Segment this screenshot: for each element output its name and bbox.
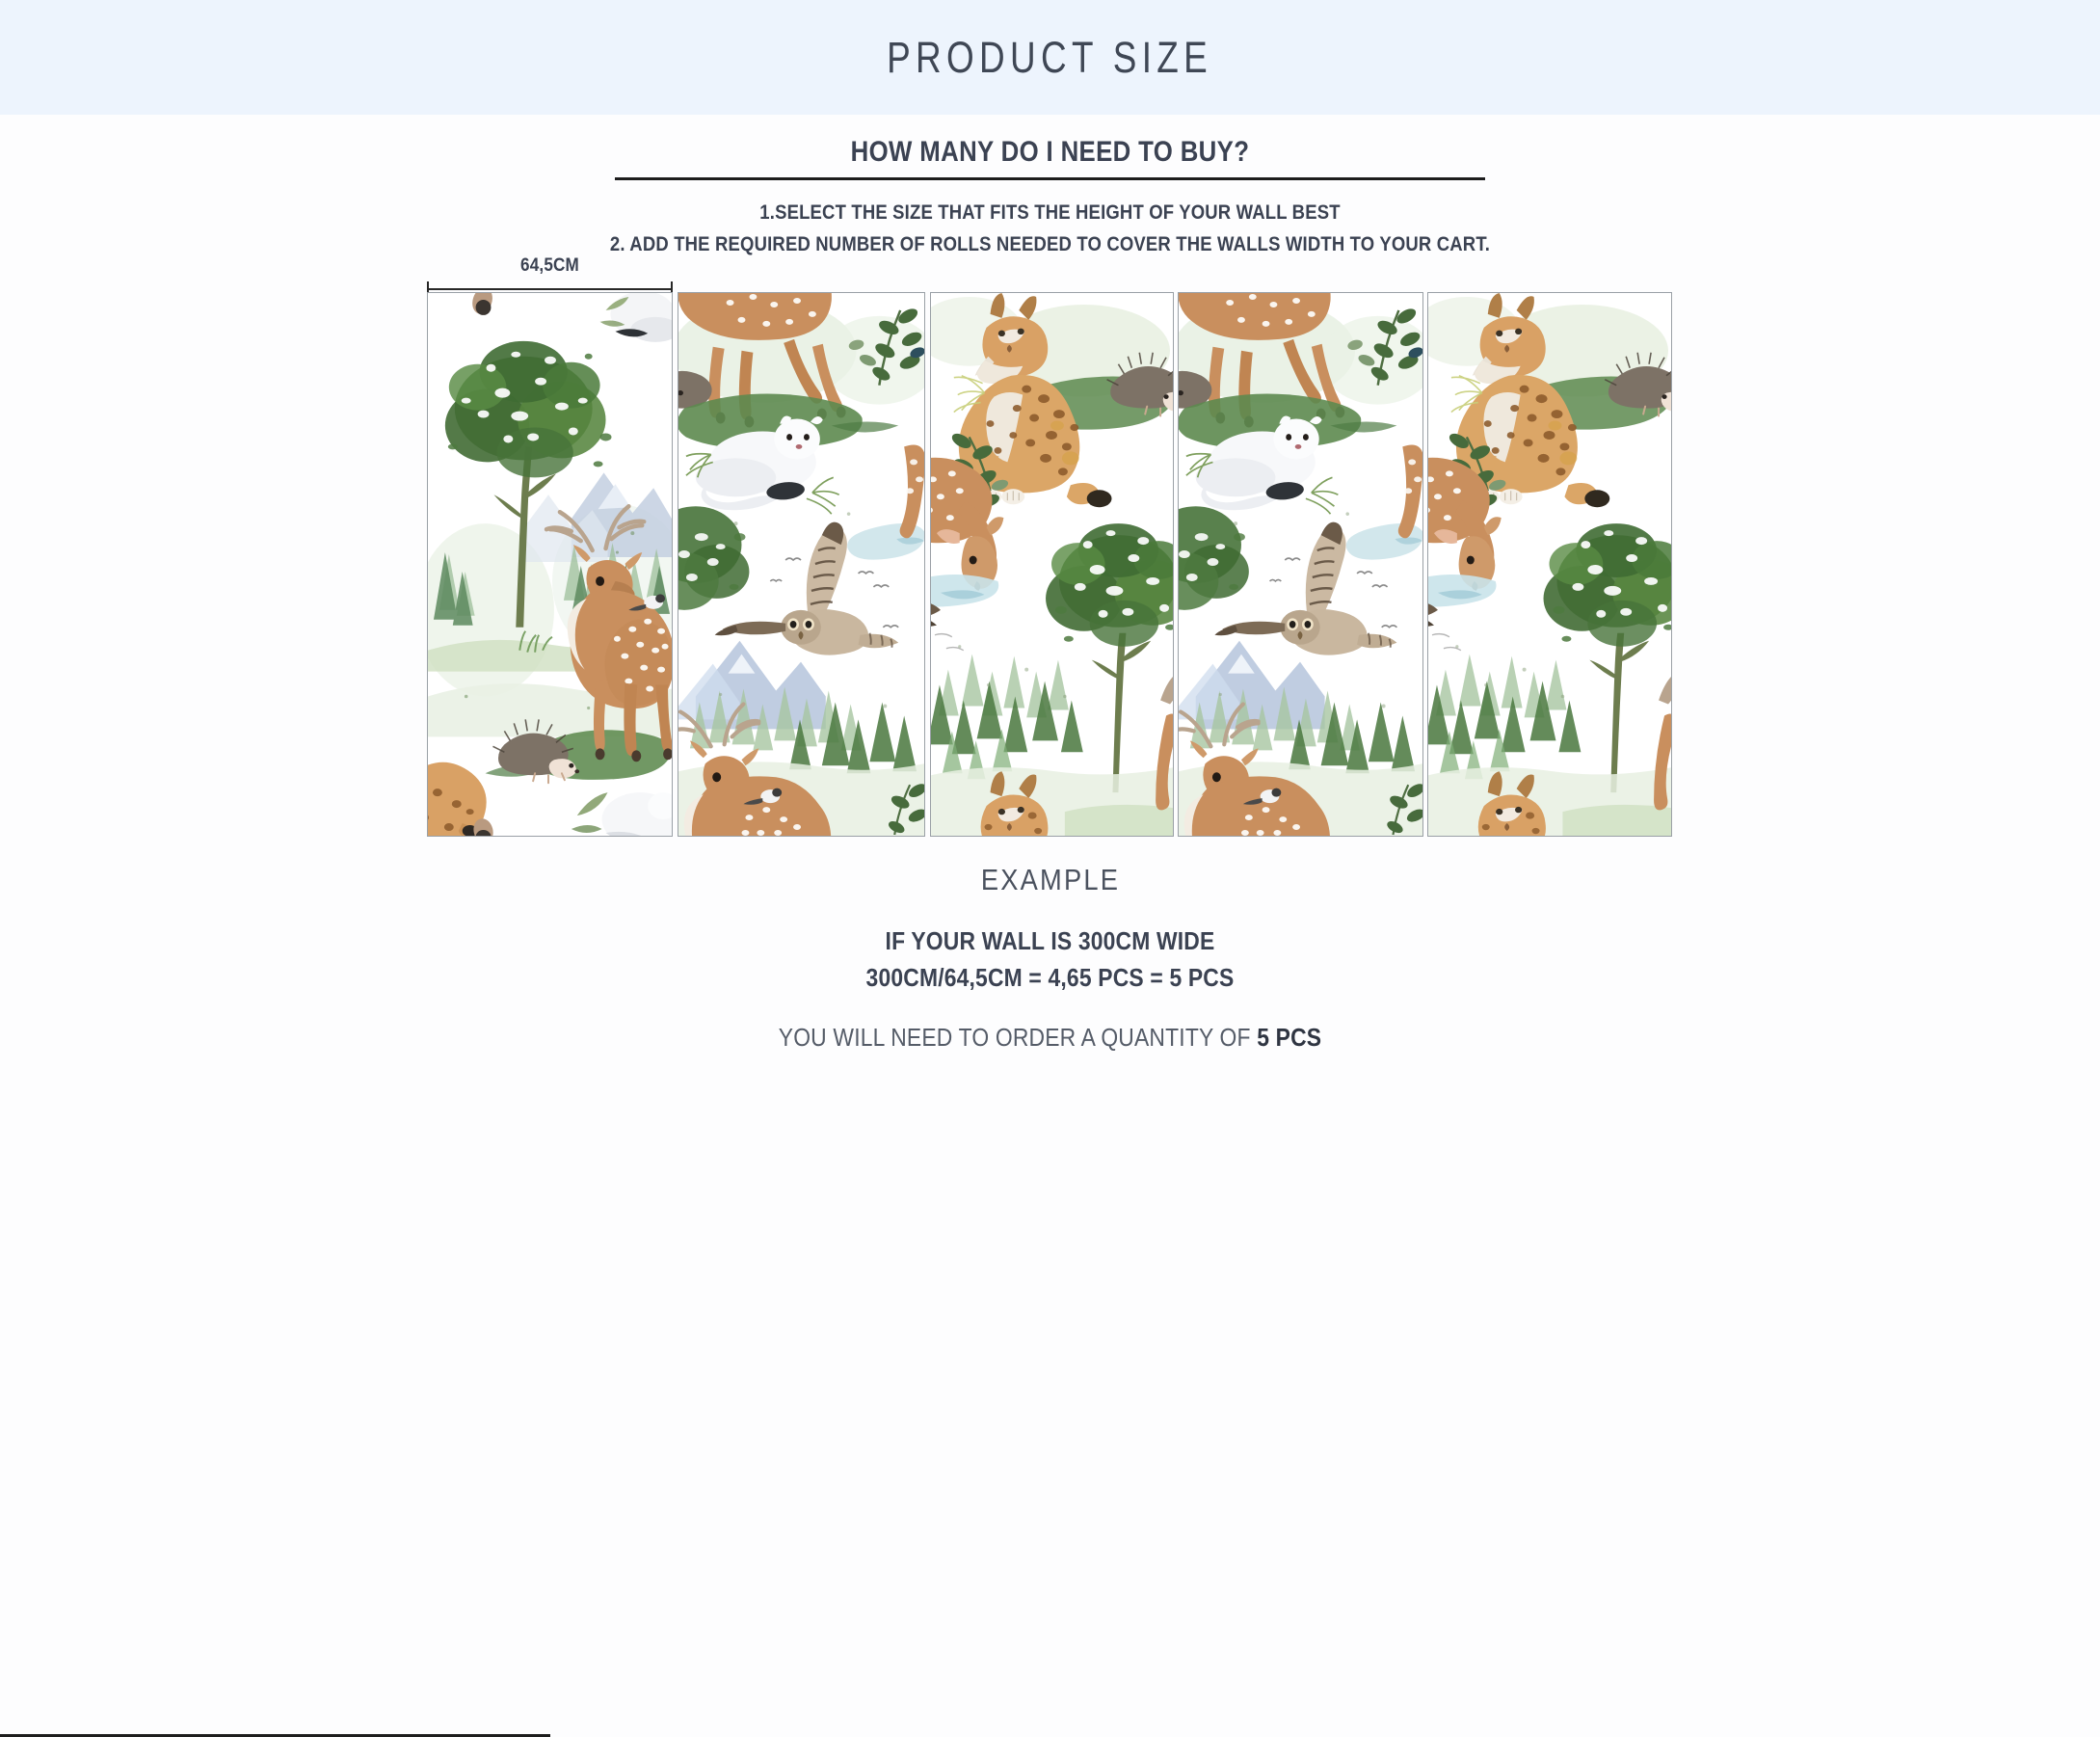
panel-1-artwork bbox=[428, 293, 672, 836]
instructions-title: HOW MANY DO I NEED TO BUY? bbox=[851, 136, 1250, 169]
wallpaper-panel-4[interactable] bbox=[1178, 292, 1423, 837]
example-line-2: 300CM/64,5CM = 4,65 PCS = 5 PCS bbox=[126, 963, 1975, 993]
example-line-3: YOU WILL NEED TO ORDER A QUANTITY OF 5 P… bbox=[126, 1023, 1975, 1053]
example-section: EXAMPLE IF YOUR WALL IS 300CM WIDE 300CM… bbox=[0, 863, 2100, 1053]
roll-width-measurement: 64,5CM bbox=[427, 255, 673, 297]
instruction-step-2: 2. ADD THE REQUIRED NUMBER OF ROLLS NEED… bbox=[147, 232, 1954, 256]
wallpaper-panel-2[interactable] bbox=[678, 292, 925, 837]
wallpaper-panel-3[interactable] bbox=[930, 292, 1174, 837]
wallpaper-panel-5[interactable] bbox=[1427, 292, 1672, 837]
roll-width-label: 64,5CM bbox=[439, 255, 661, 277]
wallpaper-panel-1[interactable] bbox=[427, 292, 673, 837]
panel-2-artwork bbox=[678, 293, 924, 836]
instructions-section: HOW MANY DO I NEED TO BUY? 1.SELECT THE … bbox=[0, 115, 2100, 256]
example-title-wrap: EXAMPLE bbox=[0, 863, 2100, 897]
example-line-1: IF YOUR WALL IS 300CM WIDE bbox=[126, 926, 1975, 956]
instruction-step-1: 1.SELECT THE SIZE THAT FITS THE HEIGHT O… bbox=[147, 200, 1954, 225]
panel-5-artwork bbox=[1428, 293, 1671, 836]
page-header: PRODUCT SIZE bbox=[0, 0, 2100, 115]
instructions-divider bbox=[615, 177, 1485, 180]
example-quantity: 5 PCS bbox=[1257, 1023, 1321, 1052]
page-title: PRODUCT SIZE bbox=[887, 33, 1212, 83]
measure-line bbox=[427, 288, 673, 290]
example-line-3-prefix: YOU WILL NEED TO ORDER A QUANTITY OF bbox=[779, 1023, 1257, 1052]
panel-3-artwork bbox=[931, 293, 1173, 836]
example-title: EXAMPLE bbox=[980, 863, 1119, 897]
panel-4-artwork bbox=[1179, 293, 1422, 836]
instructions-title-wrap: HOW MANY DO I NEED TO BUY? bbox=[0, 115, 2100, 169]
